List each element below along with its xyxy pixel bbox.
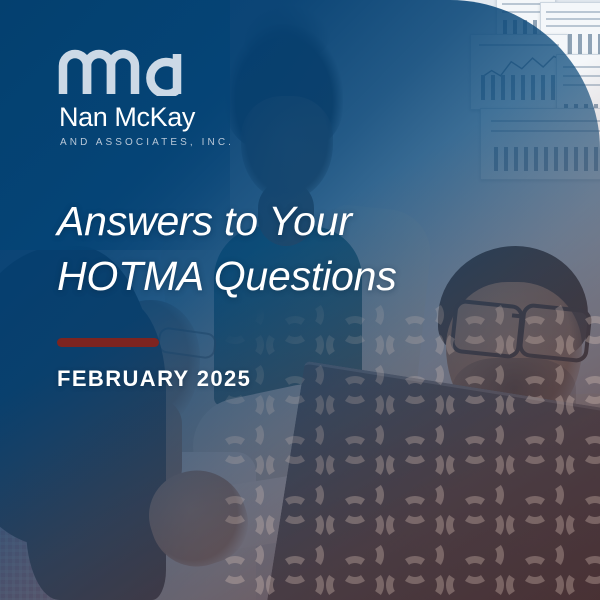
headline-line-1: Answers to Your (57, 194, 517, 249)
nma-logo-wordmark: Nan McKay (59, 100, 209, 134)
page-title: Answers to Your HOTMA Questions (57, 194, 517, 303)
headline-line-2: HOTMA Questions (57, 249, 517, 304)
logo-name-text: Nan McKay (59, 102, 196, 132)
nma-logo-mark (57, 48, 187, 96)
accent-rule (57, 338, 159, 347)
logo-lockup: Nan McKay AND ASSOCIATES, INC. (57, 48, 517, 148)
logo-tagline: AND ASSOCIATES, INC. (60, 137, 517, 148)
social-graphic-card: Nan McKay AND ASSOCIATES, INC. Answers t… (0, 0, 600, 600)
content-stack: Nan McKay AND ASSOCIATES, INC. Answers t… (57, 48, 517, 392)
dateline: FEBRUARY 2025 (57, 366, 517, 392)
